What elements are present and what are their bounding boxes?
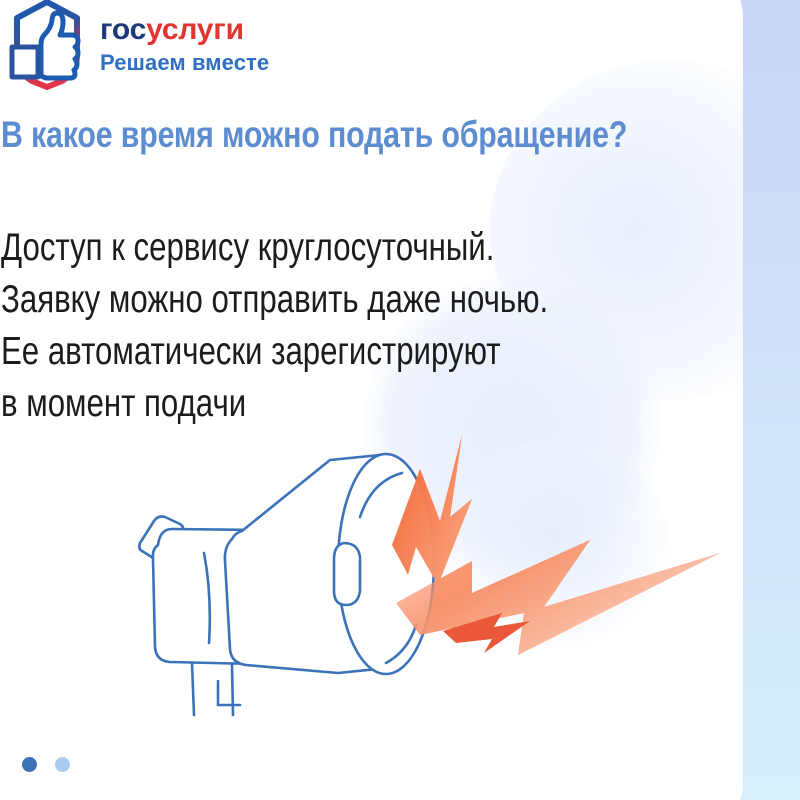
body-line: в момент подачи [1,378,609,430]
content-card: госуслуги Решаем вместе В какое время мо… [0,0,743,800]
page-dot-1[interactable] [22,757,37,772]
body-line: Доступ к сервису круглосуточный. [1,222,609,274]
page-dot-2[interactable] [55,757,70,772]
slide-canvas: госуслуги Решаем вместе В какое время мо… [0,0,800,800]
brand-logo[interactable]: госуслуги Решаем вместе [8,0,269,90]
megaphone-body [139,454,434,715]
thumbs-up-hexagon-icon [8,0,86,90]
megaphone-illustration [120,425,720,725]
brand-title: госуслуги [100,15,269,45]
body-line: Заявку можно отправить даже ночью. [1,274,609,326]
body-text: Доступ к сервису круглосуточный. Заявку … [1,222,743,430]
page-title: В какое время можно подать обращение? [1,114,575,156]
brand-subtitle: Решаем вместе [100,52,269,74]
body-line: Ее автоматически зарегистрируют [1,326,609,378]
brand-title-primary: гос [100,13,146,46]
brand-title-accent: услуги [146,13,244,46]
brand-wordmark: госуслуги Решаем вместе [100,15,269,74]
pagination-dots[interactable] [22,757,70,772]
